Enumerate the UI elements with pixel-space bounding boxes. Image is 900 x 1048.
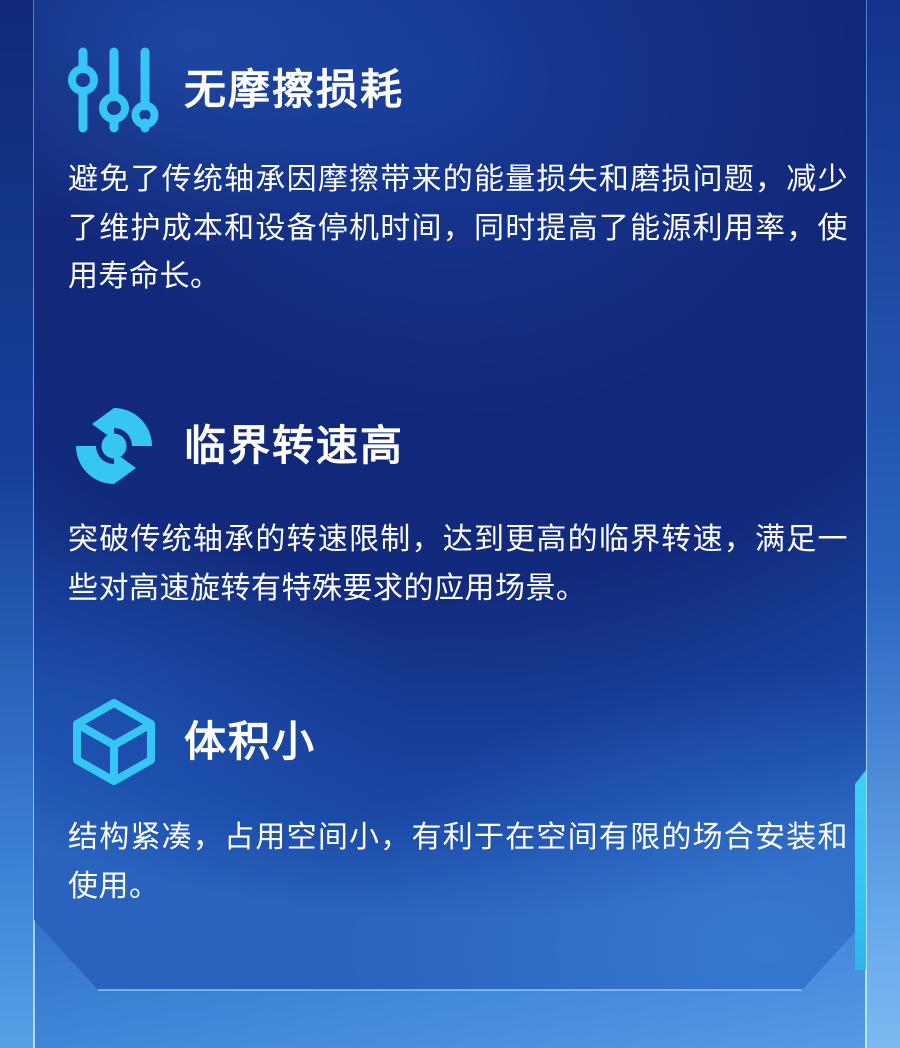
feature-title-2: 临界转速高 xyxy=(184,425,404,467)
feature-item-1: 无摩擦损耗 避免了传统轴承因摩擦带来的能量损失和磨损问题，减少了维护成本和设备停… xyxy=(68,42,848,332)
feature-body-3: 结构紧凑，占用空间小，有利于在空间有限的场合安装和使用。 xyxy=(68,814,848,911)
cube-icon xyxy=(68,696,160,788)
feature-poster: 无摩擦损耗 避免了传统轴承因摩擦带来的能量损失和磨损问题，减少了维护成本和设备停… xyxy=(0,0,900,1048)
feature-header-2: 临界转速高 xyxy=(68,400,848,492)
feature-title-3: 体积小 xyxy=(184,721,316,763)
features-list: 无摩擦损耗 避免了传统轴承因摩擦带来的能量损失和磨损问题，减少了维护成本和设备停… xyxy=(34,0,866,990)
sliders-icon xyxy=(68,44,160,136)
frame-left-edge xyxy=(0,0,33,1048)
feature-title-1: 无摩擦损耗 xyxy=(184,69,404,111)
feature-body-1: 避免了传统轴承因摩擦带来的能量损失和磨损问题，减少了维护成本和设备停机时间，同时… xyxy=(68,156,848,302)
feature-body-2: 突破传统轴承的转速限制，达到更高的临界转速，满足一些对高速旋转有特殊要求的应用场… xyxy=(68,516,848,613)
feature-item-3: 体积小 结构紧凑，占用空间小，有利于在空间有限的场合安装和使用。 xyxy=(68,696,848,941)
feature-header-1: 无摩擦损耗 xyxy=(68,42,848,138)
rotation-speed-icon xyxy=(68,400,160,492)
frame-right-edge xyxy=(866,0,900,1048)
feature-header-3: 体积小 xyxy=(68,696,848,788)
feature-item-2: 临界转速高 突破传统轴承的转速限制，达到更高的临界转速，满足一些对高速旋转有特殊… xyxy=(68,400,848,643)
